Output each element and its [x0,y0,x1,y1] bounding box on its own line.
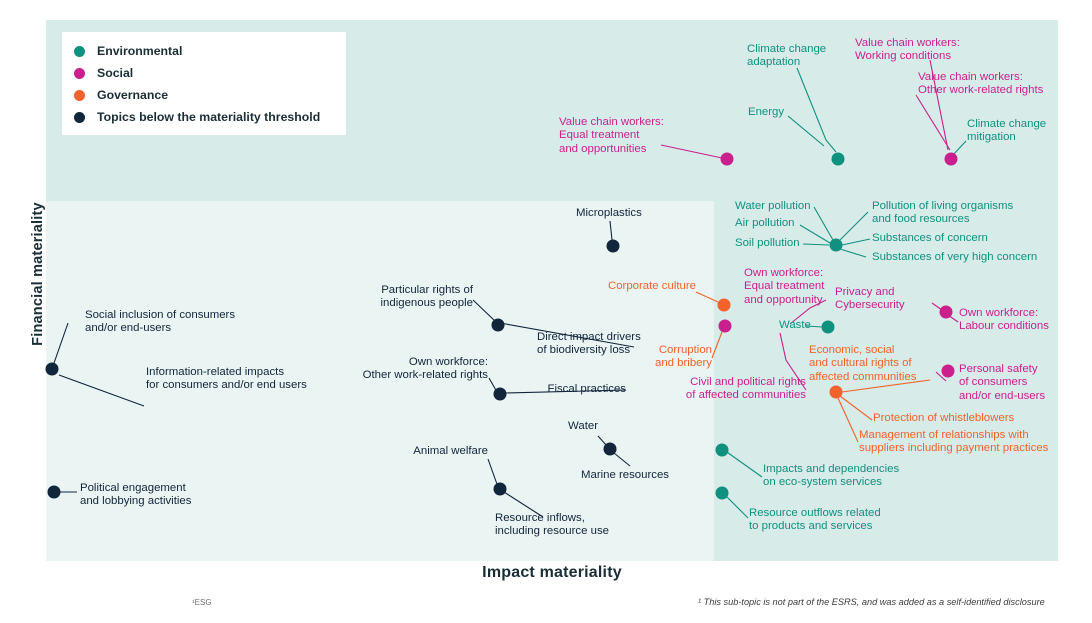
legend-label-below-threshold: Topics below the materiality threshold [97,110,320,124]
label-water-pollution: Water pollution [735,200,811,213]
footnote: ¹ This sub-topic is not part of the ESRS… [698,597,1045,607]
label-information-related-impacts: Information-related impacts for consumer… [146,366,307,393]
point-political-engagement[interactable] [48,486,61,499]
legend-dot-below-threshold [74,112,85,123]
label-water: Water [518,420,598,433]
point-personal-safety[interactable] [942,365,955,378]
label-animal-welfare: Animal welfare [368,445,488,458]
label-civil-political-rights: Civil and political rights of affected c… [646,376,806,403]
label-economic-social-cultural-rights: Economic, social and cultural rights of … [809,344,916,384]
label-impacts-dependencies-ecosystem: Impacts and dependencies on eco-system s… [763,463,899,490]
label-resource-outflows: Resource outflows related to products an… [749,507,881,534]
legend-item-environmental[interactable]: Environmental [62,40,346,62]
label-resource-inflows: Resource inflows, including resource use [495,512,609,539]
label-microplastics: Microplastics [576,207,642,220]
legend-dot-social [74,68,85,79]
label-own-workforce-other-rights: Own workforce: Other work-related rights [320,356,488,383]
legend-dot-governance [74,90,85,101]
point-impacts-dependencies-ecosystem[interactable] [716,444,729,457]
label-climate-change-mitigation: Climate change mitigation [967,118,1046,145]
label-marine-resources: Marine resources [581,469,669,482]
label-own-workforce-equal-treatment: Own workforce: Equal treatment and oppor… [744,267,824,307]
label-value-chain-equal-treatment: Value chain workers: Equal treatment and… [559,116,664,156]
point-privacy-cybersecurity[interactable] [940,306,953,319]
label-air-pollution: Air pollution [735,217,795,230]
point-energy-climate-adaptation[interactable] [832,153,845,166]
point-pollution-cluster[interactable] [830,239,843,252]
label-personal-safety: Personal safety of consumers and/or end-… [959,363,1045,403]
materiality-matrix-chart: Climate change adaptation Energy Value c… [0,0,1092,623]
label-protection-whistleblowers: Protection of whistleblowers [873,412,1014,425]
label-privacy-cybersecurity: Privacy and Cybersecurity [835,286,905,313]
label-social-inclusion: Social inclusion of consumers and/or end… [85,309,235,336]
label-political-engagement: Political engagement and lobbying activi… [80,482,191,509]
point-economic-social-cultural-rights[interactable] [830,386,843,399]
point-animal-welfare-resource-inflows[interactable] [494,483,507,496]
y-axis-title: Financial materiality [30,164,46,384]
label-soil-pollution: Soil pollution [735,237,800,250]
legend-label-environmental: Environmental [97,44,182,58]
label-waste: Waste [779,319,811,332]
legend-item-social[interactable]: Social [62,62,346,84]
label-value-chain-other-rights: Value chain workers: Other work-related … [918,71,1043,98]
point-waste[interactable] [822,321,835,334]
label-energy: Energy [748,106,784,119]
legend-item-below-threshold[interactable]: Topics below the materiality threshold [62,106,346,128]
label-substances-of-concern: Substances of concern [872,232,988,245]
legend-label-governance: Governance [97,88,168,102]
point-value-chain-equal-treatment[interactable] [721,153,734,166]
label-corporate-culture: Corporate culture [556,280,696,293]
point-climate-change-mitigation[interactable] [945,153,958,166]
label-climate-change-adaptation: Climate change adaptation [747,43,826,70]
tiny-mark: ¹ESG [192,598,212,607]
label-management-relationships-suppliers: Management of relationships with supplie… [859,429,1048,456]
x-axis-title: Impact materiality [46,564,1058,582]
point-water-marine[interactable] [604,443,617,456]
point-indigenous-biodiversity[interactable] [492,319,505,332]
point-resource-outflows[interactable] [716,487,729,500]
point-microplastics[interactable] [607,240,620,253]
label-fiscal-practices: Fiscal practices [496,383,626,396]
label-substances-very-high-concern: Substances of very high concern [872,251,1037,264]
label-own-workforce-labour-conditions: Own workforce: Labour conditions [959,307,1049,334]
label-pollution-living-organisms: Pollution of living organisms and food r… [872,200,1013,227]
point-own-workforce-equal-treatment[interactable] [719,320,732,333]
legend-dot-environmental [74,46,85,57]
label-value-chain-working-conditions: Value chain workers: Working conditions [855,37,960,64]
label-particular-rights-indigenous: Particular rights of indigenous people [313,284,473,311]
label-corruption-bribery: Corruption and bribery [602,344,712,371]
point-corporate-culture[interactable] [718,299,731,312]
legend: Environmental Social Governance Topics b… [62,32,346,135]
point-social-inclusion[interactable] [46,363,59,376]
legend-item-governance[interactable]: Governance [62,84,346,106]
legend-label-social: Social [97,66,133,80]
